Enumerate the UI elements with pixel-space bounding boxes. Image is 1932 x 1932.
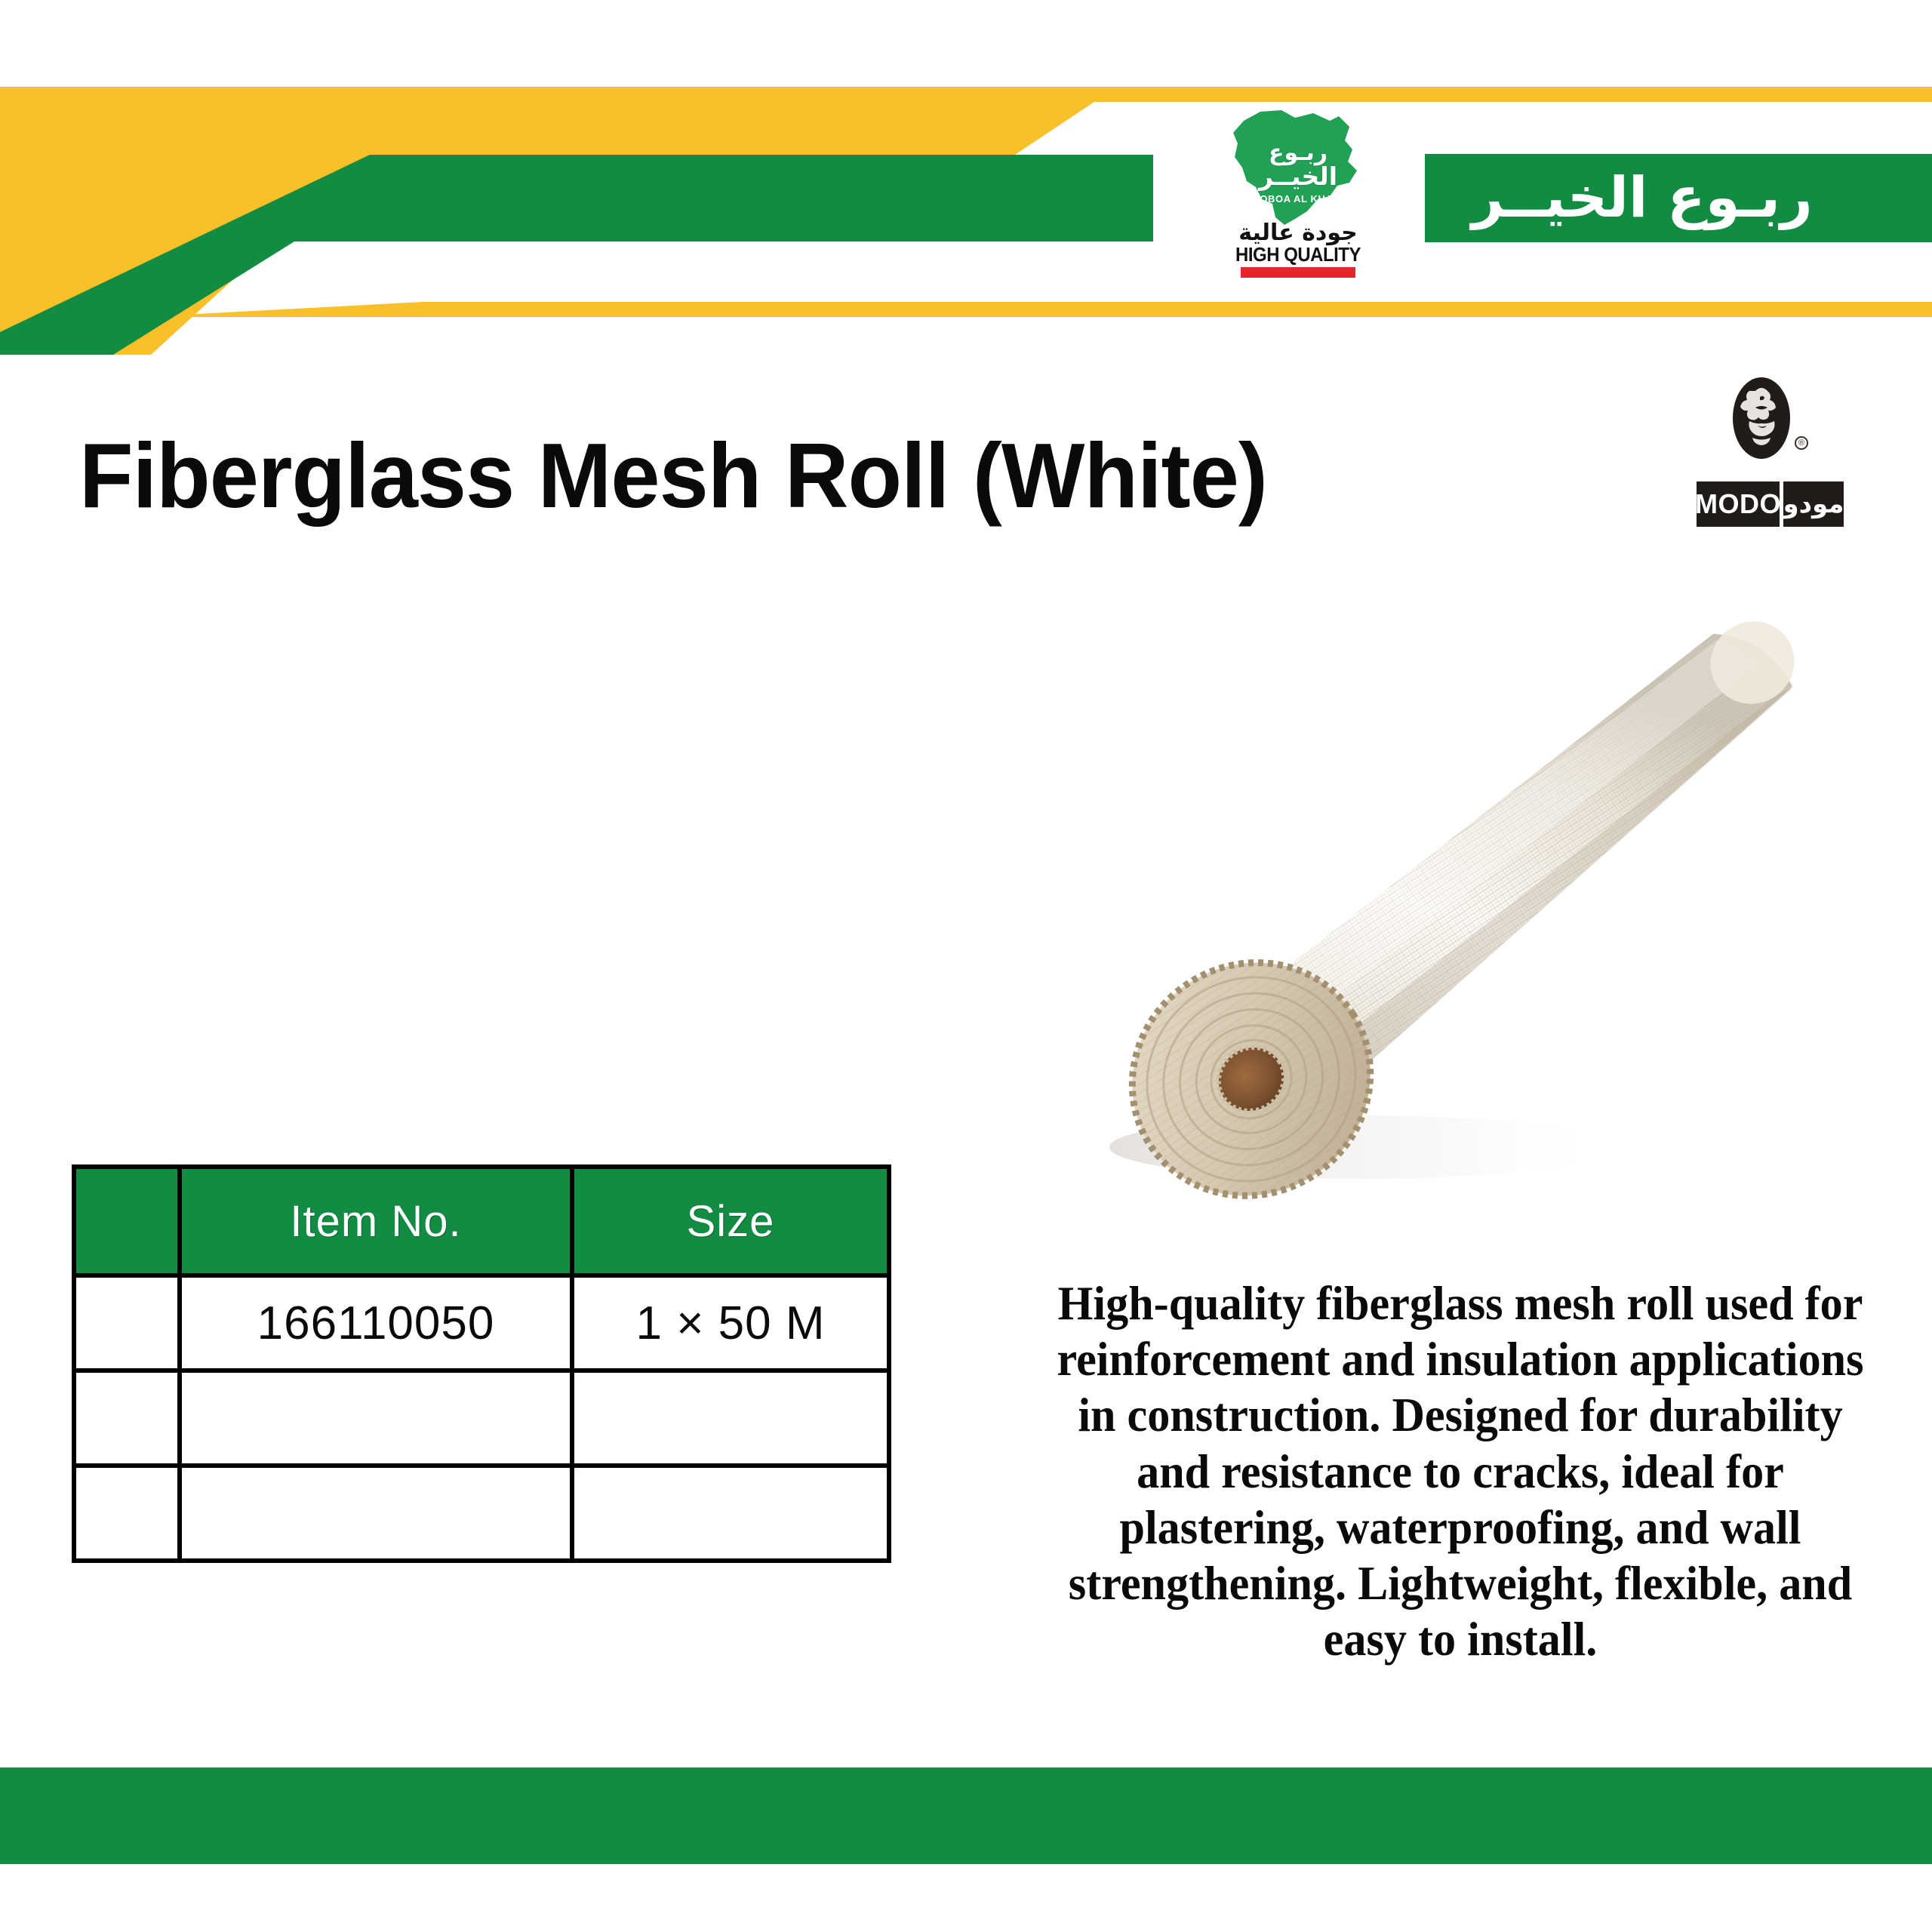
- high-quality-badge: جودة عالية HIGH QUALITY: [1211, 222, 1386, 278]
- table-cell-item-no: [180, 1371, 572, 1466]
- modo-oval-crest-icon: [1733, 377, 1790, 459]
- modo-logo: ® MODO مودو: [1674, 377, 1863, 547]
- logo-arabic-text: ربـوع الخيــر: [1217, 143, 1380, 188]
- roboa-al-khair-logo: ربـوع الخيــر ROBOA AL KHAIR جودة عالية …: [1217, 107, 1380, 281]
- high-quality-arabic: جودة عالية: [1211, 222, 1386, 245]
- product-description: High-quality fiberglass mesh roll used f…: [1041, 1275, 1878, 1668]
- logo-english-text: ROBOA AL KHAIR: [1217, 193, 1380, 205]
- modo-wordmark: MODO مودو: [1697, 481, 1844, 527]
- red-underline-bar: [1241, 267, 1355, 278]
- brand-name-arabic: ربـوع الخيــر: [1472, 148, 1894, 248]
- table-row: 166110050 1 × 50 M: [74, 1275, 889, 1371]
- page-title: Fiberglass Mesh Roll (White): [79, 423, 1528, 528]
- yellow-line-top: [1072, 87, 1932, 102]
- footer-bar: [0, 1767, 1932, 1864]
- table-header-item-no: Item No.: [180, 1167, 572, 1275]
- table-row: [74, 1466, 889, 1561]
- product-image: [1034, 604, 1834, 1230]
- table-row: [74, 1371, 889, 1466]
- modo-name-arabic: مودو: [1783, 481, 1844, 527]
- table-cell-blank: [74, 1371, 180, 1466]
- table-cell-item-no: 166110050: [180, 1275, 572, 1371]
- table-cell-blank: [74, 1275, 180, 1371]
- registered-trademark-icon: ®: [1795, 436, 1808, 450]
- table-header-blank: [74, 1167, 180, 1275]
- saudi-map-icon: ربـوع الخيــر ROBOA AL KHAIR: [1217, 107, 1380, 228]
- table-cell-blank: [74, 1466, 180, 1561]
- high-quality-english: HIGH QUALITY: [1217, 245, 1378, 265]
- modo-name-english: MODO: [1697, 481, 1780, 527]
- logo-arabic-line-2: الخيــر: [1217, 165, 1380, 188]
- table-header-row: Item No. Size: [74, 1167, 889, 1275]
- yellow-line-bottom: [423, 302, 1932, 317]
- table-cell-size: [572, 1466, 889, 1561]
- specifications-table: Item No. Size 166110050 1 × 50 M: [72, 1164, 891, 1563]
- table-cell-size: 1 × 50 M: [572, 1275, 889, 1371]
- table-header-size: Size: [572, 1167, 889, 1275]
- modo-emblem-icon: ®: [1674, 377, 1863, 475]
- table-cell-size: [572, 1371, 889, 1466]
- table-cell-item-no: [180, 1466, 572, 1561]
